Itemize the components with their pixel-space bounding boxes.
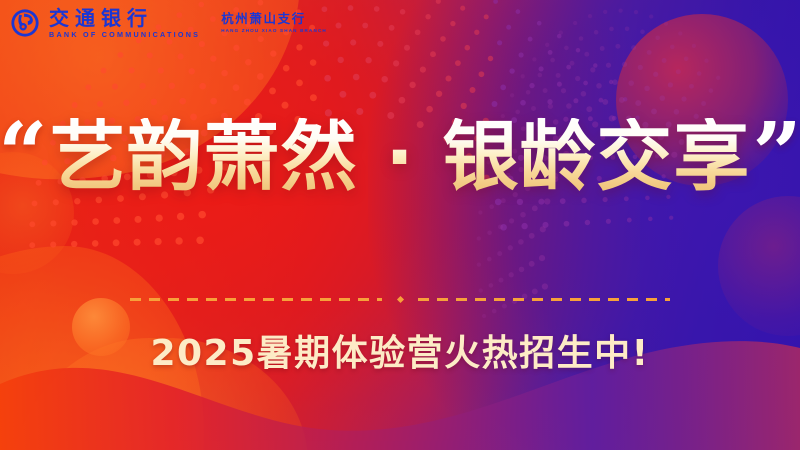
bank-of-communications-logo-icon [10, 8, 40, 38]
promotional-banner: 交通银行 BANK OF COMMUNICATIONS 杭州萧山支行 HANG … [0, 0, 800, 450]
branch-name-cn: 杭州萧山支行 [221, 13, 327, 26]
page-title: 艺韵萧然 · 银龄交享 [50, 118, 751, 196]
diamond-icon [396, 295, 403, 302]
page-subtitle: 2025暑期体验营火热招生中! [0, 324, 800, 376]
close-quote-icon: ” [752, 120, 800, 191]
branch-name-block: 杭州萧山支行 HANG ZHOU XIAO SHAN BRANCH [221, 13, 327, 34]
headline-row: “ 艺韵萧然 · 银龄交享 ” [0, 118, 800, 196]
divider-dash-right [418, 298, 670, 301]
dashed-divider [130, 297, 670, 301]
bank-name-block: 交通银行 BANK OF COMMUNICATIONS [49, 8, 200, 38]
divider-center [382, 297, 418, 302]
divider-dash-left [130, 298, 382, 301]
branch-name-en: HANG ZHOU XIAO SHAN BRANCH [221, 29, 327, 34]
bank-logo-bar: 交通银行 BANK OF COMMUNICATIONS 杭州萧山支行 HANG … [10, 8, 327, 38]
bank-name-cn: 交通银行 [49, 8, 200, 28]
bank-name-en: BANK OF COMMUNICATIONS [49, 31, 200, 38]
open-quote-icon: “ [0, 120, 48, 191]
